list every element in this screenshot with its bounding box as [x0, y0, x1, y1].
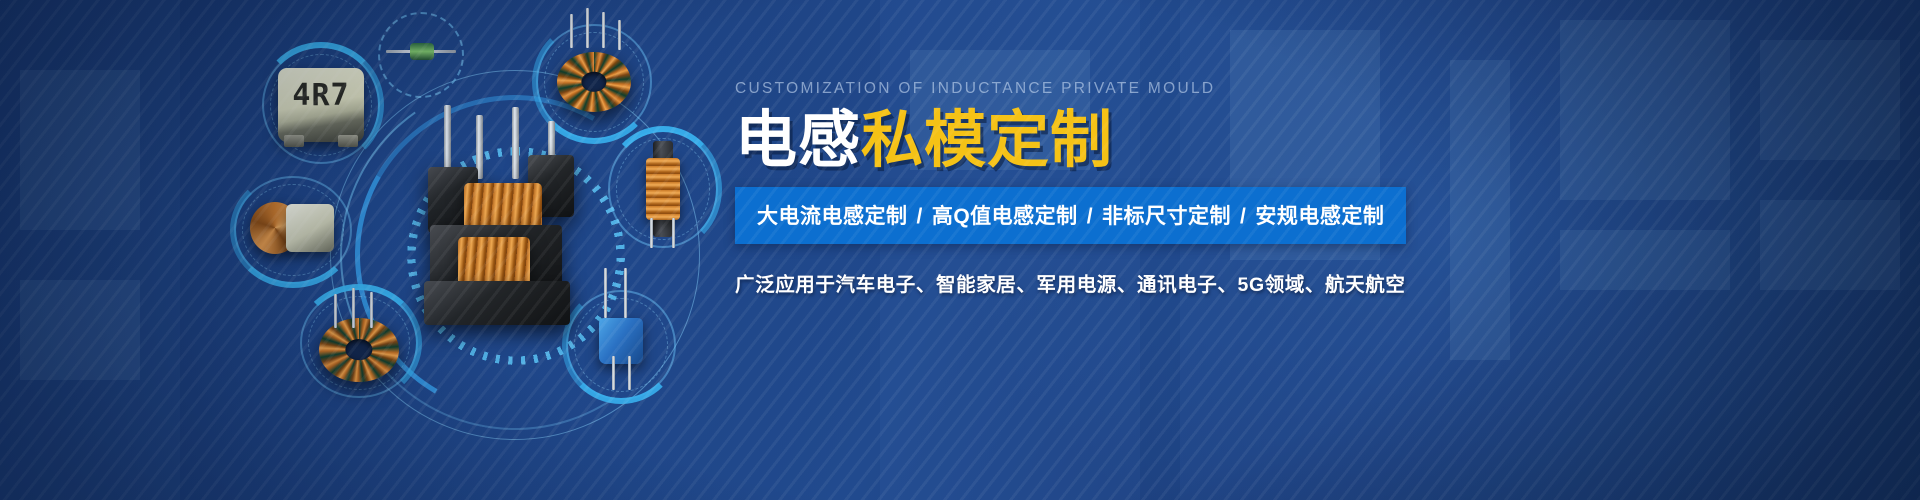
feature-item-3: 安规电感定制 — [1255, 205, 1384, 228]
lead-wire — [628, 356, 631, 390]
smd-part-label: 4R7 — [278, 78, 364, 113]
promo-banner: 4R7 — [0, 0, 1920, 500]
application-description: 广泛应用于汽车电子、智能家居、军用电源、通讯电子、5G领域、航天航空 — [735, 268, 1375, 297]
toroid-core — [557, 52, 631, 112]
headline-white-part: 电感 — [735, 103, 861, 176]
toroid-core — [319, 318, 399, 382]
lead-wire — [586, 8, 589, 48]
feature-item-1: 高Q值电感定制 — [932, 205, 1078, 228]
banner-text-block: CUSTOMIZATION OF INDUCTANCE PRIVATE MOUL… — [735, 80, 1375, 297]
feature-list-bar: 大电流电感定制/高Q值电感定制/非标尺寸定制/安规电感定制 — [735, 187, 1406, 244]
product-common-mode-choke-assembly — [400, 105, 670, 355]
smd-body: 4R7 — [278, 68, 364, 142]
base-block — [424, 281, 570, 325]
lead-wire — [570, 14, 573, 48]
feature-item-2: 非标尺寸定制 — [1102, 205, 1231, 228]
page-title: 电感私模定制 — [735, 107, 1375, 173]
feature-separator: / — [1078, 205, 1102, 228]
lead-wire — [370, 292, 373, 328]
product-axial-bead — [386, 22, 456, 82]
lead-pin — [512, 107, 519, 179]
lead-wire — [618, 20, 621, 50]
feature-item-0: 大电流电感定制 — [757, 205, 908, 228]
feature-separator: / — [908, 205, 932, 228]
lead-wire — [602, 12, 605, 48]
feature-separator: / — [1231, 205, 1255, 228]
lead-wire — [672, 218, 675, 248]
copper-winding — [458, 237, 530, 287]
lead-wire — [612, 356, 615, 390]
lead-wire — [352, 288, 355, 328]
eyebrow-text: CUSTOMIZATION OF INDUCTANCE PRIVATE MOUL… — [735, 80, 1375, 98]
product-smd-pair-inductor — [234, 176, 352, 284]
lead-wire — [334, 294, 337, 328]
product-smd-power-inductor: 4R7 — [262, 46, 380, 164]
smd-body — [286, 204, 334, 252]
bead-body — [410, 43, 434, 60]
headline-gold-part: 私模定制 — [861, 103, 1113, 176]
